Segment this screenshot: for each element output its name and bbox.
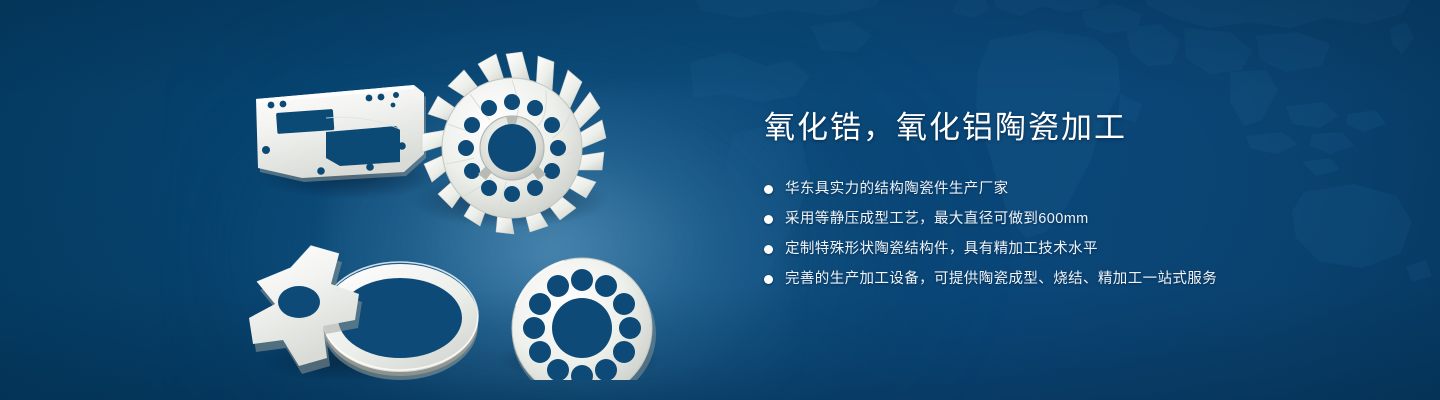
bullet-dot-icon <box>764 245 773 254</box>
ceramic-parts-photo <box>230 40 730 380</box>
list-item: 华东具实力的结构陶瓷件生产厂家 <box>764 178 1384 200</box>
bullet-dot-icon <box>764 215 773 224</box>
feature-text: 华东具实力的结构陶瓷件生产厂家 <box>785 178 1009 200</box>
feature-text: 定制特殊形状陶瓷结构件，具有精加工技术水平 <box>785 238 1098 260</box>
feature-text: 完善的生产加工设备，可提供陶瓷成型、烧结、精加工一站式服务 <box>785 268 1217 290</box>
page-title: 氧化锆，氧化铝陶瓷加工 <box>764 108 1384 148</box>
banner-copy: 氧化锆，氧化铝陶瓷加工 华东具实力的结构陶瓷件生产厂家 采用等静压成型工艺，最大… <box>764 108 1384 298</box>
feature-text: 采用等静压成型工艺，最大直径可做到600mm <box>785 208 1089 230</box>
hero-banner: 氧化锆，氧化铝陶瓷加工 华东具实力的结构陶瓷件生产厂家 采用等静压成型工艺，最大… <box>0 0 1440 400</box>
list-item: 定制特殊形状陶瓷结构件，具有精加工技术水平 <box>764 238 1384 260</box>
bullet-dot-icon <box>764 275 773 284</box>
feature-list: 华东具实力的结构陶瓷件生产厂家 采用等静压成型工艺，最大直径可做到600mm 定… <box>764 178 1384 290</box>
list-item: 完善的生产加工设备，可提供陶瓷成型、烧结、精加工一站式服务 <box>764 268 1384 290</box>
ceramic-plate-part <box>256 85 426 182</box>
list-item: 采用等静压成型工艺，最大直径可做到600mm <box>764 208 1384 230</box>
bullet-dot-icon <box>764 185 773 194</box>
ceramic-perforated-disc-part <box>512 258 656 380</box>
